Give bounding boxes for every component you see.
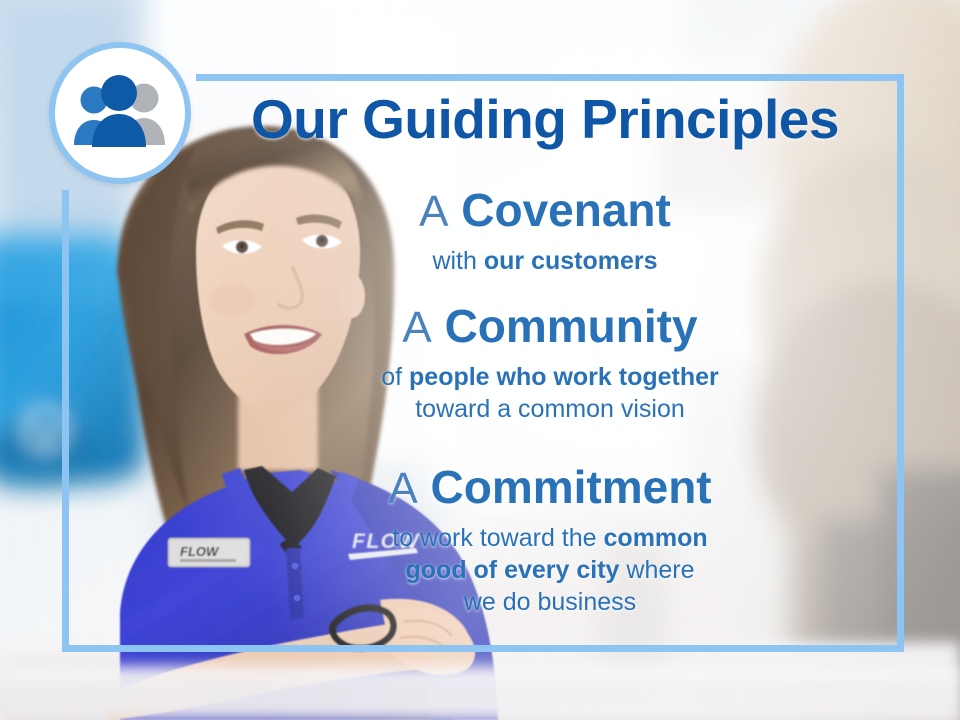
people-group-badge <box>49 42 191 184</box>
people-group-icon <box>68 75 172 151</box>
principle-noun: Commitment <box>431 461 712 513</box>
banner-canvas: FLOW FLOW <box>0 0 960 720</box>
principle-article: A <box>402 303 431 352</box>
principle-article: A <box>388 464 417 513</box>
principle-body-line-1: to work toward the common <box>200 522 900 554</box>
principle-body: to work toward the common good of every … <box>200 522 900 618</box>
page-title: Our Guiding Principles <box>200 92 890 147</box>
principle-commitment: A Commitment to work toward the common g… <box>200 463 900 618</box>
principle-body-line-3: we do business <box>200 586 900 618</box>
principle-noun: Community <box>445 300 698 352</box>
principle-body-bold: our customers <box>484 247 658 275</box>
principle-body-regular: with <box>432 247 483 275</box>
principle-body: of people who work together toward a com… <box>200 361 900 425</box>
principle-community: A Community of people who work together … <box>200 302 900 425</box>
principle-body-regular: to work toward the <box>392 524 603 552</box>
principle-body-bold: people who work together <box>409 363 719 391</box>
principle-body-regular-2: where <box>619 556 694 584</box>
principle-heading: A Commitment <box>200 463 900 513</box>
principle-body-regular: of <box>381 363 409 391</box>
principle-heading: A Community <box>200 302 900 352</box>
principle-article: A <box>419 187 448 236</box>
principle-noun: Covenant <box>461 184 671 236</box>
principle-covenant: A Covenant with our customers <box>200 186 890 277</box>
principle-body-line-2: toward a common vision <box>200 393 900 425</box>
principle-heading: A Covenant <box>200 186 890 236</box>
principle-body: with our customers <box>200 245 890 277</box>
principle-body-bold: common <box>604 524 708 552</box>
principle-body-line-2: good of every city where <box>200 554 900 586</box>
principle-body-line-1: of people who work together <box>200 361 900 393</box>
principle-body-bold-2: good of every city <box>406 556 620 584</box>
